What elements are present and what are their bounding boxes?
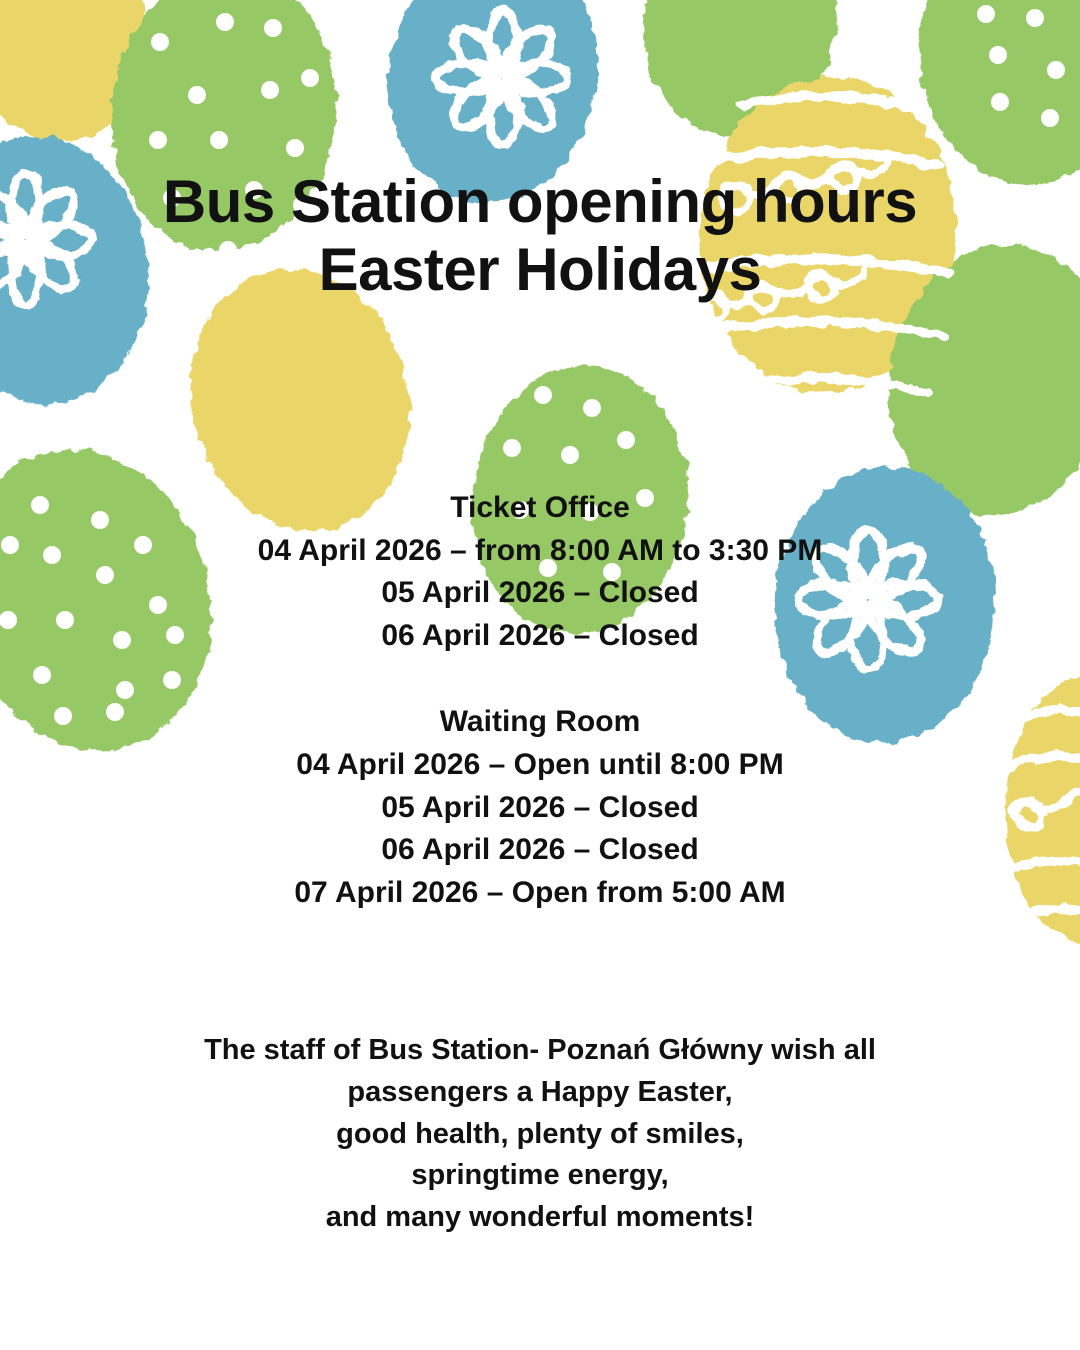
- section-heading-ticket-office: Ticket Office: [0, 487, 1080, 530]
- message-line: springtime energy,: [0, 1155, 1080, 1197]
- section-waiting-room: Waiting Room 04 April 2026 – Open until …: [0, 701, 1080, 914]
- message-line: passengers a Happy Easter,: [0, 1072, 1080, 1114]
- hours-line: 04 April 2026 – from 8:00 AM to 3:30 PM: [0, 530, 1080, 573]
- hours-line: 04 April 2026 – Open until 8:00 PM: [0, 744, 1080, 787]
- section-spacer: [0, 657, 1080, 701]
- poster-title: Bus Station opening hours Easter Holiday…: [0, 168, 1080, 304]
- title-line-1: Bus Station opening hours: [0, 168, 1080, 236]
- hours-line: 05 April 2026 – Closed: [0, 572, 1080, 615]
- hours-line: 05 April 2026 – Closed: [0, 787, 1080, 830]
- poster-text-content: Bus Station opening hours Easter Holiday…: [0, 0, 1080, 1350]
- section-heading-waiting-room: Waiting Room: [0, 701, 1080, 744]
- opening-hours-block: Ticket Office 04 April 2026 – from 8:00 …: [0, 487, 1080, 914]
- greeting-message-block: The staff of Bus Station- Poznań Główny …: [0, 1030, 1080, 1239]
- title-line-2: Easter Holidays: [0, 236, 1080, 304]
- message-line: good health, plenty of smiles,: [0, 1114, 1080, 1156]
- easter-opening-hours-poster: Bus Station opening hours Easter Holiday…: [0, 0, 1080, 1350]
- message-line: and many wonderful moments!: [0, 1197, 1080, 1239]
- hours-line: 07 April 2026 – Open from 5:00 AM: [0, 872, 1080, 915]
- message-line: The staff of Bus Station- Poznań Główny …: [0, 1030, 1080, 1072]
- hours-line: 06 April 2026 – Closed: [0, 615, 1080, 658]
- section-ticket-office: Ticket Office 04 April 2026 – from 8:00 …: [0, 487, 1080, 657]
- hours-line: 06 April 2026 – Closed: [0, 829, 1080, 872]
